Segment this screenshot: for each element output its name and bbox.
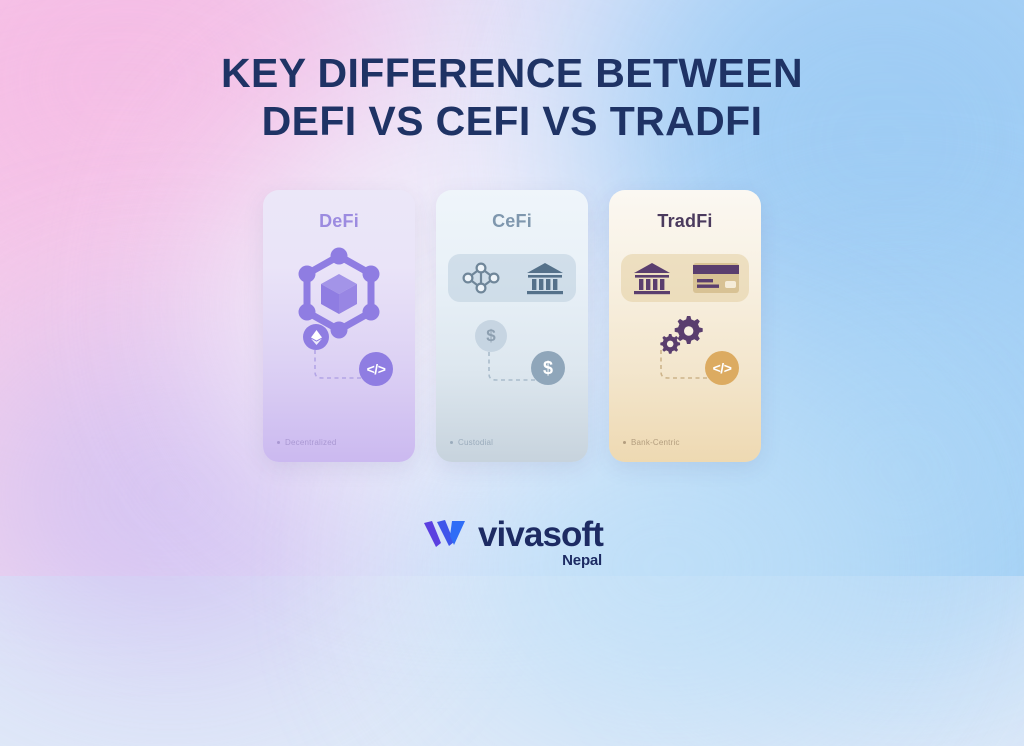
bullet-dot (277, 441, 280, 444)
card-defi-footer-label: Decentralized (285, 438, 337, 447)
tradfi-icon-panel (621, 254, 749, 302)
card-tradfi-title: TradFi (609, 211, 761, 232)
card-tradfi-footer: Bank-Centric (623, 438, 680, 447)
code-badge[interactable]: </> (359, 352, 393, 386)
card-tradfi-body: </> (609, 232, 761, 412)
comparison-cards: DeFi (0, 190, 1024, 462)
bullet-dot (450, 441, 453, 444)
card-tradfi-footer-label: Bank-Centric (631, 438, 680, 447)
ethereum-icon (311, 330, 322, 345)
credit-card-icon (692, 261, 740, 295)
page-title: KEY DIFFERENCE BETWEEN DEFI VS CEFI VS T… (0, 50, 1024, 145)
card-cefi-body: $ $ (436, 232, 588, 412)
ethereum-badge[interactable] (303, 324, 329, 350)
dollar-badge-small[interactable]: $ (475, 320, 507, 352)
brand-logo: vivasoft Nepal (0, 517, 1024, 554)
cefi-icon-panel (448, 254, 576, 302)
code-badge[interactable]: </> (705, 351, 739, 385)
card-cefi-footer-label: Custodial (458, 438, 493, 447)
brand-name: vivasoft (478, 515, 603, 554)
dollar-icon: $ (543, 358, 553, 379)
title-line-2: DEFI VS CEFI VS TRADFI (0, 98, 1024, 146)
card-defi-body: </> (263, 232, 415, 412)
card-defi-title: DeFi (263, 211, 415, 232)
bank-building-icon (631, 260, 673, 296)
cube-icon (321, 274, 357, 314)
dollar-badge-large[interactable]: $ (531, 351, 565, 385)
bank-building-icon (525, 260, 565, 296)
code-brackets-icon: </> (367, 361, 386, 377)
bullet-dot (623, 441, 626, 444)
code-brackets-icon: </> (713, 360, 732, 376)
brand-wordmark: vivasoft Nepal (478, 519, 603, 551)
vivasoft-w-mark-icon (421, 517, 467, 554)
card-cefi-title: CeFi (436, 211, 588, 232)
card-defi[interactable]: DeFi (263, 190, 415, 462)
card-defi-footer: Decentralized (277, 438, 337, 447)
node-graph-icon (459, 260, 503, 296)
dollar-icon: $ (486, 326, 495, 346)
brand-region: Nepal (562, 552, 602, 569)
card-tradfi[interactable]: TradFi (609, 190, 761, 462)
card-cefi-footer: Custodial (450, 438, 493, 447)
card-cefi[interactable]: CeFi (436, 190, 588, 462)
title-line-1: KEY DIFFERENCE BETWEEN (0, 50, 1024, 98)
